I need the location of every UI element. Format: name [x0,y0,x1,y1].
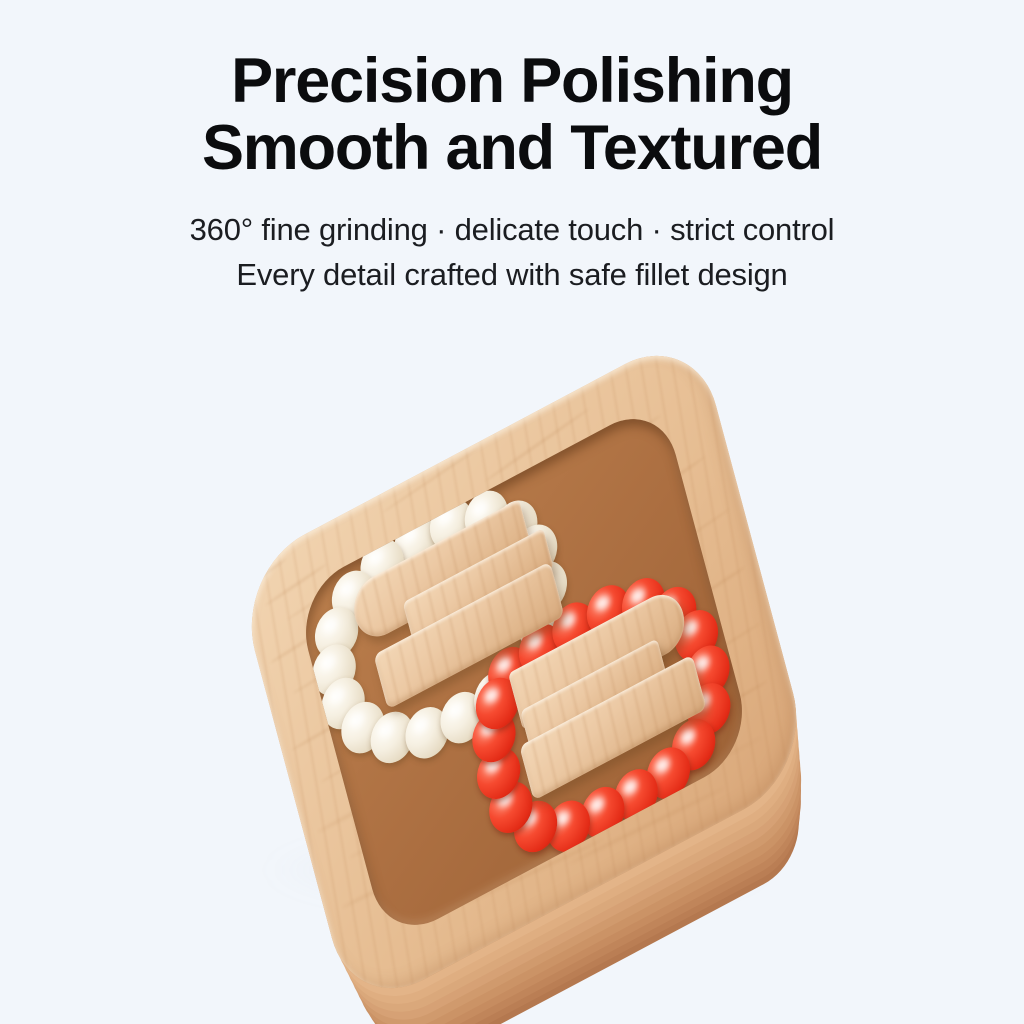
page-title: Precision Polishing Smooth and Textured [0,48,1024,182]
headline-line-2: Smooth and Textured [0,115,1024,182]
subtitle-line-1: 360° fine grinding · delicate touch · st… [0,207,1024,253]
wood-grain-streak [246,558,287,588]
promo-text-block: Precision Polishing Smooth and Textured … [0,0,1024,298]
subtitle-line-2: Every detail crafted with safe fillet de… [0,252,1024,298]
headline-line-1: Precision Polishing [0,48,1024,115]
wooden-bead-puzzle [234,327,814,1017]
subtitle: 360° fine grinding · delicate touch · st… [0,207,1024,298]
product-image [0,360,1024,1000]
